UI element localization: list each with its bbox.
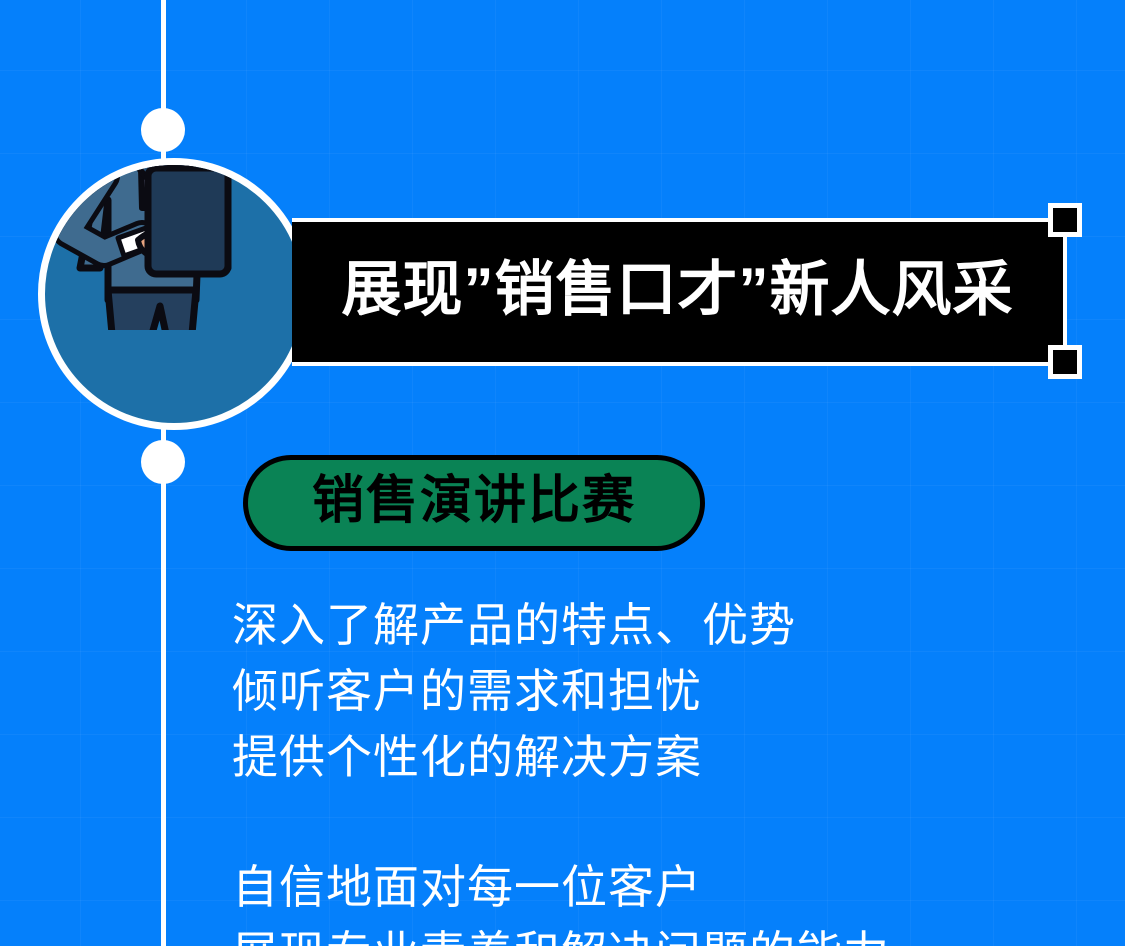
subtitle-pill-text: 销售演讲比赛 bbox=[312, 475, 636, 531]
selection-edge-line bbox=[1063, 224, 1067, 360]
rail-dot-upper-icon bbox=[141, 108, 185, 152]
body-copy: 深入了解产品的特点、优势 倾听客户的需求和担忧 提供个性化的解决方案 自信地面对… bbox=[232, 592, 1062, 946]
avatar-illustration-clip bbox=[45, 165, 303, 423]
resize-handle-bottom-right[interactable] bbox=[1048, 345, 1082, 379]
headline-text: 展现”销售口才”新人风采 bbox=[342, 260, 1014, 324]
rail-dot-lower-icon bbox=[141, 440, 185, 484]
subtitle-pill-badge: 销售演讲比赛 bbox=[243, 455, 705, 551]
body-line: 自信地面对每一位客户 bbox=[232, 854, 1062, 920]
headline-banner: 展现”销售口才”新人风采 bbox=[292, 218, 1063, 366]
paragraph-1: 深入了解产品的特点、优势 倾听客户的需求和担忧 提供个性化的解决方案 bbox=[232, 592, 1062, 790]
poster-canvas: 展现”销售口才”新人风采 销售演讲比赛 深入了解产品的特点、优势 倾听客户的需求… bbox=[0, 0, 1125, 946]
paragraph-2: 自信地面对每一位客户 展现专业素养和解决问题的能力 bbox=[232, 854, 1062, 946]
body-line: 提供个性化的解决方案 bbox=[232, 724, 1062, 790]
resize-handle-top-right[interactable] bbox=[1048, 203, 1082, 237]
body-line: 倾听客户的需求和担忧 bbox=[232, 658, 1062, 724]
body-line: 深入了解产品的特点、优势 bbox=[232, 592, 1062, 658]
businessman-pointing-icon bbox=[45, 165, 303, 330]
body-line: 展现专业素养和解决问题的能力 bbox=[232, 920, 1062, 946]
